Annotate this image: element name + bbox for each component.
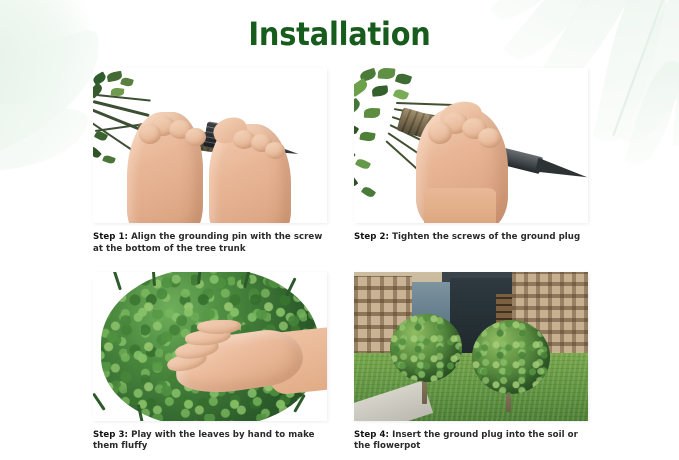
steps-grid: Step 1: Align the grounding pin with the… xyxy=(93,68,588,453)
step-card-4: Step 4: Insert the ground plug into the … xyxy=(354,272,588,454)
topiary-ball-right xyxy=(472,320,550,394)
step-2-photo xyxy=(354,68,588,223)
topiary-ball-left xyxy=(390,314,462,382)
step-1-caption: Step 1: Align the grounding pin with the… xyxy=(93,232,327,256)
step-4-caption: Step 4: Insert the ground plug into the … xyxy=(354,430,588,454)
step-card-2: Step 2: Tighten the screws of the ground… xyxy=(354,68,588,256)
wrist xyxy=(424,188,496,223)
step-2-label: Step 2: xyxy=(354,232,389,242)
step-1-photo xyxy=(93,68,327,223)
step-3-caption: Step 3: Play with the leaves by hand to … xyxy=(93,430,327,454)
page-title: Installation xyxy=(0,14,679,54)
steps-row-2: Step 3: Play with the leaves by hand to … xyxy=(93,272,588,454)
step-4-label: Step 4: xyxy=(354,430,389,440)
step-1-text: Align the grounding pin with the screw a… xyxy=(93,232,322,254)
step-4-photo xyxy=(354,272,588,421)
step-1-label: Step 1: xyxy=(93,232,128,242)
step-3-label: Step 3: xyxy=(93,430,128,440)
step-2-caption: Step 2: Tighten the screws of the ground… xyxy=(354,232,588,244)
step-2-text: Tighten the screws of the ground plug xyxy=(392,232,580,242)
step-card-3: Step 3: Play with the leaves by hand to … xyxy=(93,272,327,454)
steps-row-1: Step 1: Align the grounding pin with the… xyxy=(93,68,588,256)
installation-instruction-page: Installation xyxy=(0,0,679,460)
step-3-photo xyxy=(93,272,327,421)
step-card-1: Step 1: Align the grounding pin with the… xyxy=(93,68,327,256)
